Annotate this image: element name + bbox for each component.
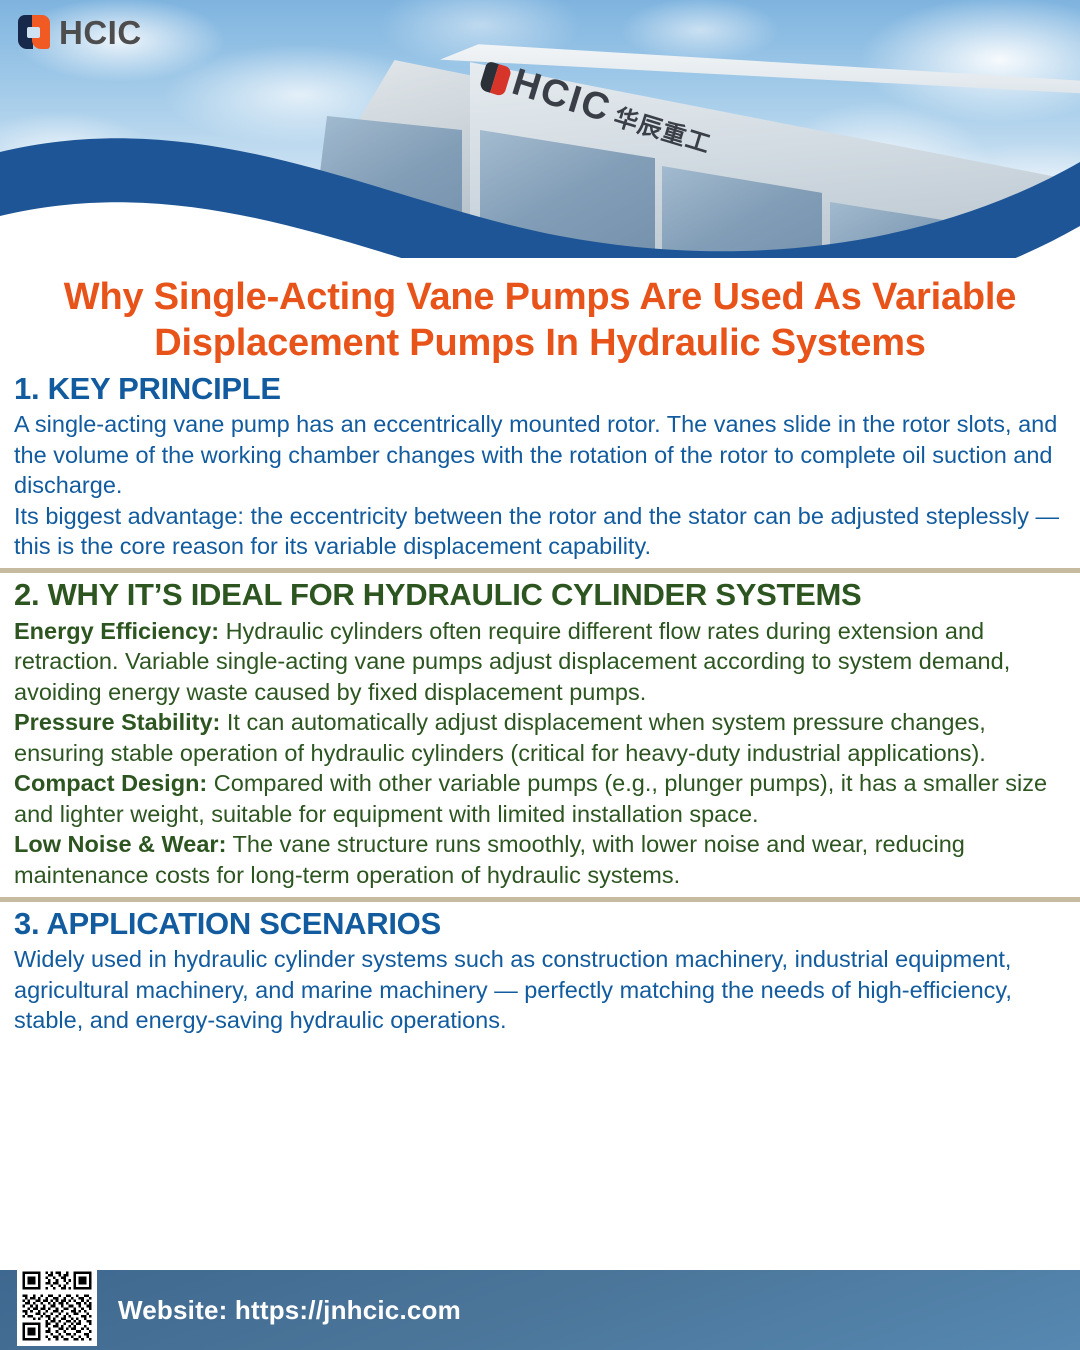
page-title: Why Single-Acting Vane Pumps Are Used As… [14, 274, 1066, 367]
footer: Website: https://jnhcic.com [0, 1262, 1080, 1350]
section-heading: 2. WHY IT’S IDEAL FOR HYDRAULIC CYLINDER… [14, 577, 1066, 614]
section-application-scenarios: 3. APPLICATION SCENARIOS Widely used in … [0, 906, 1080, 1036]
section-why-ideal: 2. WHY IT’S IDEAL FOR HYDRAULIC CYLINDER… [0, 577, 1080, 891]
paragraph: Pressure Stability: It can automatically… [14, 707, 1066, 768]
paragraph-text: Its biggest advantage: the eccentricity … [14, 503, 1059, 560]
section-heading: 3. APPLICATION SCENARIOS [14, 906, 1066, 943]
paragraph-text: Widely used in hydraulic cylinder system… [14, 946, 1012, 1033]
building-window-1 [312, 116, 462, 256]
paragraph: Compact Design: Compared with other vari… [14, 768, 1066, 829]
qr-code-icon[interactable] [17, 1266, 97, 1346]
paragraph-lead: Pressure Stability: [14, 709, 220, 735]
section-divider [0, 897, 1080, 902]
section-heading: 1. KEY PRINCIPLE [14, 371, 1066, 408]
paragraph: A single-acting vane pump has an eccentr… [14, 409, 1066, 501]
hcic-logo-mark-icon [18, 15, 50, 49]
section-body: A single-acting vane pump has an eccentr… [14, 409, 1066, 562]
paragraph: Low Noise & Wear: The vane structure run… [14, 829, 1066, 890]
hero-banner: HCIC华辰重工 HCIC [0, 0, 1080, 258]
section-key-principle: 1. KEY PRINCIPLE A single-acting vane pu… [0, 371, 1080, 562]
section-body: Energy Efficiency: Hydraulic cylinders o… [14, 616, 1066, 891]
brand-logo: HCIC [18, 15, 142, 49]
paragraph-lead: Compact Design: [14, 770, 207, 796]
paragraph-lead: Energy Efficiency: [14, 618, 219, 644]
paragraph: Its biggest advantage: the eccentricity … [14, 501, 1066, 562]
website-label[interactable]: Website: https://jnhcic.com [118, 1270, 461, 1350]
section-body: Widely used in hydraulic cylinder system… [14, 944, 1066, 1036]
factory-building-photo: HCIC华辰重工 [290, 18, 1080, 258]
brand-logo-text: HCIC [59, 16, 142, 49]
paragraph-text: A single-acting vane pump has an eccentr… [14, 411, 1057, 498]
paragraph: Energy Efficiency: Hydraulic cylinders o… [14, 616, 1066, 708]
paragraph-lead: Low Noise & Wear: [14, 831, 226, 857]
paragraph: Widely used in hydraulic cylinder system… [14, 944, 1066, 1036]
section-divider [0, 568, 1080, 573]
